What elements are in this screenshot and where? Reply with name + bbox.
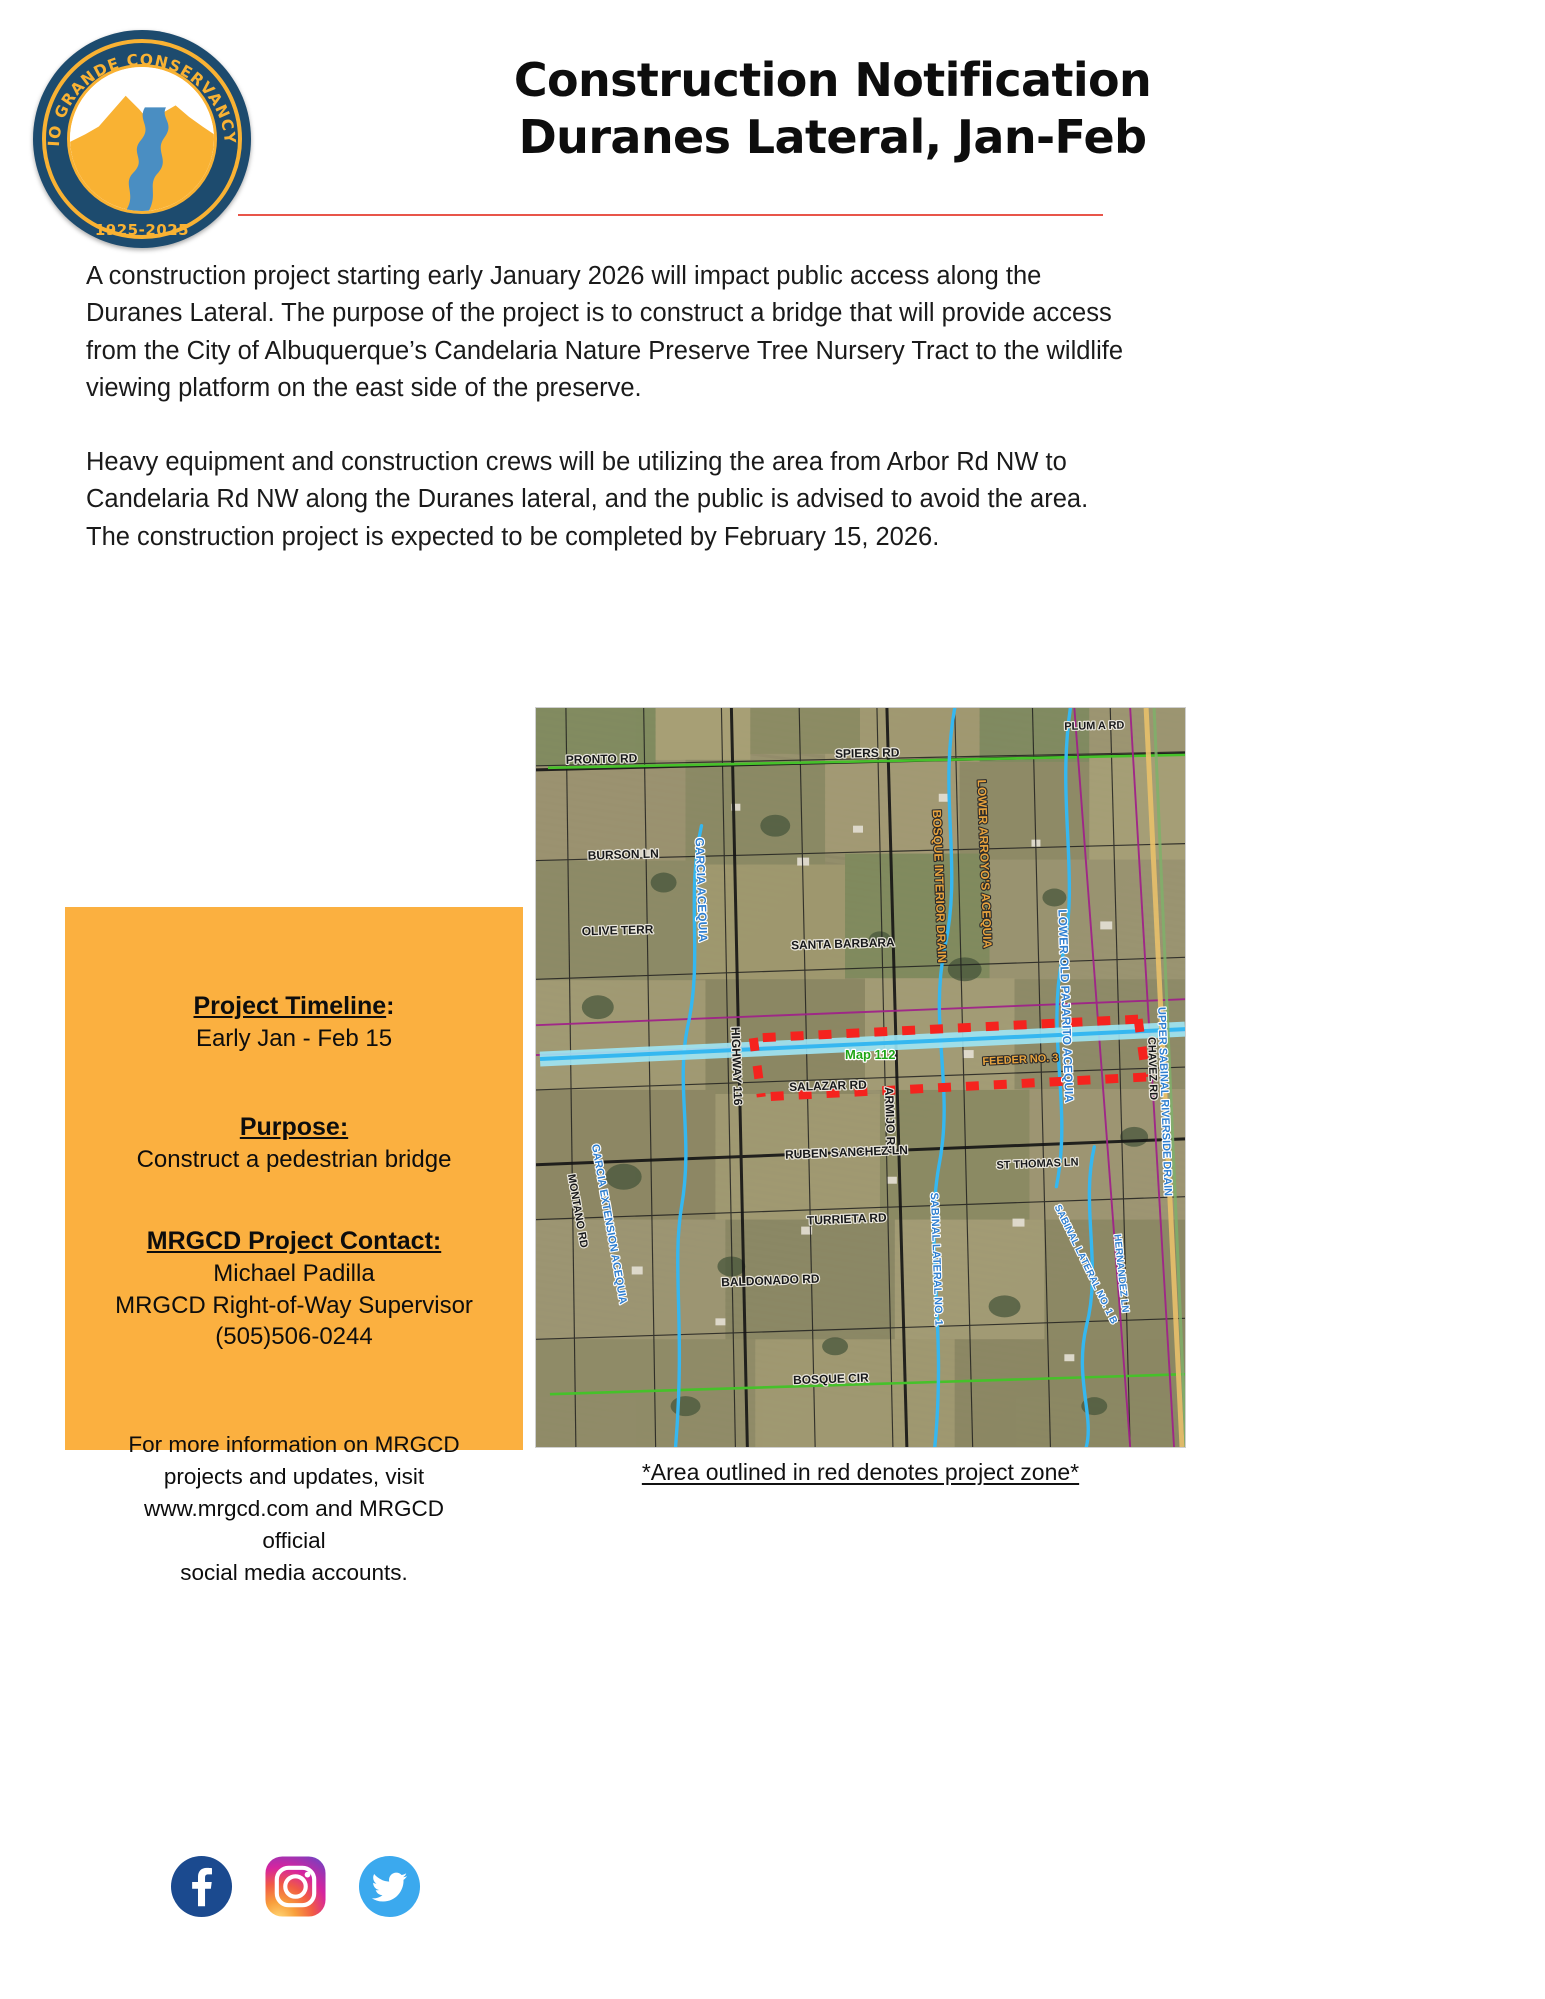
map-caption: *Area outlined in red denotes project zo… (535, 1459, 1186, 1486)
spacer-3 (85, 1353, 503, 1429)
twitter-icon[interactable] (358, 1855, 421, 1918)
page-header: MIDDLE RIO GRANDE CONSERVANCY DISTRICT 1… (0, 0, 1545, 270)
contact-heading: MRGCD Project Contact: (85, 1225, 503, 1258)
spacer-1 (85, 1054, 503, 1111)
svg-text:PRONTO RD: PRONTO RD (566, 751, 638, 767)
svg-text:BURSON LN: BURSON LN (588, 846, 659, 862)
timeline-heading-text: Project Timeline (194, 992, 387, 1020)
paragraph-2: Heavy equipment and construction crews w… (86, 444, 1136, 556)
contact-role: MRGCD Right-of-Way Supervisor (85, 1290, 503, 1322)
seal-year-label: 1925-2025 (33, 221, 251, 239)
spacer-2 (85, 1175, 503, 1225)
instagram-icon[interactable] (264, 1855, 327, 1918)
svg-text:HIGHWAY 116: HIGHWAY 116 (728, 1027, 745, 1106)
header-divider (238, 214, 1103, 216)
note-line-3: www.mrgcd.com and MRGCD official (119, 1493, 469, 1557)
map-image[interactable]: PRONTO RD SPIERS RD PLUM A RD BURSON LN … (535, 707, 1186, 1448)
title-line-1: Construction Notification (255, 52, 1485, 109)
seal-inner-disc (67, 64, 217, 214)
contact-name: Michael Padilla (85, 1258, 503, 1290)
mrgcd-logo: MIDDLE RIO GRANDE CONSERVANCY DISTRICT 1… (33, 30, 251, 248)
map-number-label: Map 112 (845, 1047, 895, 1062)
note-line-2: projects and updates, visit (119, 1461, 469, 1493)
more-info-note: For more information on MRGCD projects a… (85, 1429, 503, 1589)
title-line-2: Duranes Lateral, Jan-Feb (255, 109, 1485, 166)
purpose-heading: Purpose: (85, 1111, 503, 1144)
body-copy: A construction project starting early Ja… (86, 258, 1136, 556)
timeline-value: Early Jan - Feb 15 (85, 1023, 503, 1055)
svg-text:SALAZAR RD: SALAZAR RD (789, 1078, 867, 1094)
timeline-heading-colon: : (386, 992, 394, 1020)
svg-text:BOSQUE CIR: BOSQUE CIR (793, 1371, 869, 1388)
contact-phone: (505)506-0244 (85, 1321, 503, 1353)
note-line-1: For more information on MRGCD (119, 1429, 469, 1461)
seal-landscape-art (70, 67, 214, 211)
purpose-value: Construct a pedestrian bridge (85, 1144, 503, 1176)
svg-text:OLIVE TERR: OLIVE TERR (582, 922, 654, 938)
purpose-block: Purpose: Construct a pedestrian bridge (85, 1111, 503, 1175)
svg-text:SPIERS RD: SPIERS RD (835, 745, 900, 760)
svg-text:PLUM A RD: PLUM A RD (1064, 720, 1124, 733)
page-title: Construction Notification Duranes Latera… (255, 52, 1485, 165)
social-links (170, 1855, 421, 1918)
contact-block: MRGCD Project Contact: Michael Padilla M… (85, 1225, 503, 1353)
note-line-4: social media accounts. (119, 1557, 469, 1589)
purpose-heading-text: Purpose: (240, 1113, 348, 1141)
contact-heading-text: MRGCD Project Contact: (147, 1227, 441, 1255)
project-map: PRONTO RD SPIERS RD PLUM A RD BURSON LN … (535, 707, 1186, 1448)
paragraph-1: A construction project starting early Ja… (86, 258, 1136, 408)
svg-text:CHAVEZ RD: CHAVEZ RD (1145, 1037, 1159, 1101)
facebook-icon[interactable] (170, 1855, 233, 1918)
timeline-heading: Project Timeline: (85, 990, 503, 1023)
project-info-panel: Project Timeline: Early Jan - Feb 15 Pur… (65, 907, 523, 1450)
timeline-block: Project Timeline: Early Jan - Feb 15 (85, 990, 503, 1054)
